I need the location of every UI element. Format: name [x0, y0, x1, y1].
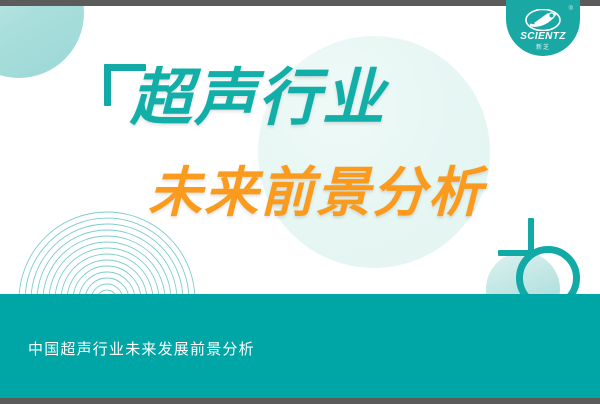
band-caption-text: 中国超声行业未来发展前景分析 — [28, 338, 255, 359]
top-left-accent-circle — [0, 6, 84, 78]
headline-primary: 超声行业 — [130, 68, 386, 130]
poster-body: 超声行业 未来前景分析 中国超声行业未来发展前景分析 — [0, 6, 600, 398]
bottom-teal-band: 中国超声行业未来发展前景分析 — [0, 294, 600, 398]
scientz-chinese-name: 新芝 — [506, 42, 580, 51]
registered-trademark-icon: ® — [569, 6, 573, 12]
scientz-wordmark: SCIENTZ — [506, 31, 580, 42]
headline-secondary: 未来前景分析 — [148, 166, 484, 220]
poster-canvas: 超声行业 未来前景分析 中国超声行业未来发展前景分析 ® SCIENTZ 新芝 — [0, 0, 600, 404]
bracket-top-left-vertical — [104, 64, 111, 106]
bracket-bottom-right — [498, 218, 534, 256]
flask-swoosh-icon — [525, 9, 561, 31]
bottom-frame-strip — [0, 398, 600, 404]
bracket-bottom-right-vertical — [528, 218, 534, 256]
scientz-logo-badge: ® SCIENTZ 新芝 — [506, 0, 580, 56]
